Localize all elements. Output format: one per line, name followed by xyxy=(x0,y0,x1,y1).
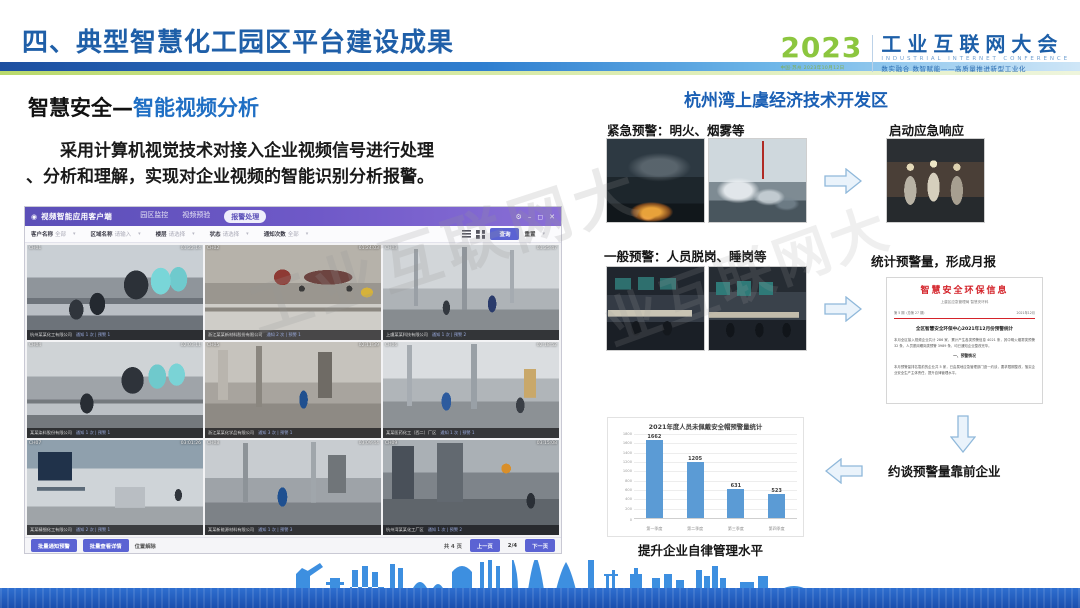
tab-video-inspection[interactable]: 视频预验 xyxy=(182,210,210,223)
caption-meta: 通知 2 次 | 预警 1 xyxy=(266,332,300,338)
app-tabs: 园区监控 视频预验 报警处理 xyxy=(140,210,266,223)
bar-q3[interactable] xyxy=(727,489,744,518)
clock: 03:01:26 xyxy=(181,441,201,446)
x-tick: 第四季度 xyxy=(769,526,785,532)
alert-statistics-chart: 2021年度人员未佩戴安全帽预警量统计 0 200 400 600 800 10… xyxy=(607,417,804,537)
operators-photo xyxy=(708,266,807,351)
clock: 01:22:14 xyxy=(181,246,201,251)
conference-logo: 2023 中国·苏州 2023年10月12日 工业互联网大会 INDUSTRIA… xyxy=(780,34,1070,72)
filter-label: 通知次数 xyxy=(264,230,286,238)
search-button[interactable]: 查询 xyxy=(490,228,519,240)
video-cell[interactable]: CH02 01:24:03 浙江某某新材料股份有限公司 通知 2 次 | 预警 … xyxy=(205,245,381,340)
section-title: 智慧安全—智能视频分析 xyxy=(28,92,259,122)
video-cell[interactable]: CH09 03:15:08 杭州湾某某化工厂区 通知 1 次 | 预警 2 xyxy=(383,440,559,535)
chevron-down-icon[interactable]: ▾ xyxy=(138,231,141,237)
channel-id: CH02 xyxy=(207,246,219,251)
filter-notify-count[interactable]: 通知次数 全部 xyxy=(264,230,299,238)
bar-q4[interactable] xyxy=(768,494,785,518)
video-caption: 浙江某某新材料股份有限公司 通知 2 次 | 预警 1 xyxy=(205,330,381,340)
list-view-icon[interactable] xyxy=(462,230,471,239)
footer-skyline xyxy=(0,560,1080,608)
clock: 03:09:44 xyxy=(359,441,379,446)
video-timestamp: CH07 03:01:26 xyxy=(29,441,201,446)
y-tick: 400 xyxy=(625,497,632,501)
chart-y-axis: 0 200 400 600 800 1000 1200 1400 1600 18… xyxy=(610,434,634,518)
chart-bars: 1662 1205 631 523 xyxy=(634,434,797,518)
filter-label: 区域名称 xyxy=(91,230,113,238)
video-cell[interactable]: CH08 03:09:44 某某新能源材料有限公司 通知 1 次 | 预警 3 xyxy=(205,440,381,535)
video-caption: 浙江某某化学品有限公司 通知 3 次 | 预警 1 xyxy=(205,428,381,438)
filter-value: 请选择 xyxy=(223,230,240,238)
page-title: 四、典型智慧化工园区平台建设成果 xyxy=(22,22,454,59)
caption-meta: 通知 2 次 | 预警 1 xyxy=(76,527,110,533)
skyline-graphic xyxy=(0,560,1080,590)
minimize-icon[interactable]: – xyxy=(528,213,532,221)
body-line-2: 、分析和理解，实现对企业视频的智能识别分析报警。 xyxy=(26,167,434,187)
footer-water-band xyxy=(0,588,1080,608)
report-paragraph: 本月全区接入视频企业共计 286 家，累计产生各类预警信息 4021 条，其中明… xyxy=(894,337,1035,349)
arrow-right-1 xyxy=(824,168,862,194)
tab-park-monitoring[interactable]: 园区监控 xyxy=(140,210,168,223)
control-room-photo xyxy=(606,266,705,351)
logo-name-cn: 工业互联网大会 xyxy=(881,34,1070,54)
report-heading: 全区智慧安全环保中心2021年12月份预警统计 xyxy=(894,326,1035,332)
settings-icon[interactable]: ⚙ xyxy=(516,213,522,221)
bar-value: 1662 xyxy=(647,434,661,440)
video-timestamp: CH04 02:03:11 xyxy=(29,343,201,348)
filter-floor[interactable]: 楼层 请选择 xyxy=(156,230,186,238)
arrow-left xyxy=(825,458,863,484)
video-caption: 某某医药化工（西二）厂区 通知 1 次 | 预警 1 xyxy=(383,428,559,438)
report-divider xyxy=(894,318,1035,319)
report-issue: 第 5 期（总第 27 期） xyxy=(894,310,926,315)
chart-plot-area: 1662 1205 631 523 xyxy=(634,434,797,518)
caption-meta: 通知 1 次 | 预警 3 xyxy=(258,527,292,533)
label-interview-enterprises: 约谈预警量靠前企业 xyxy=(888,461,1001,480)
video-cell[interactable]: CH03 01:25:47 上虞某某科技有限公司 通知 1 次 | 预警 2 xyxy=(383,245,559,340)
filter-label: 客户名称 xyxy=(31,230,53,238)
channel-id: CH09 xyxy=(385,441,397,446)
channel-id: CH06 xyxy=(385,343,397,348)
bar-value: 523 xyxy=(771,488,781,494)
bar-group: 1662 xyxy=(646,434,663,518)
filter-value: 全部 xyxy=(55,230,66,238)
clock: 02:11:39 xyxy=(359,343,379,348)
y-tick: 1800 xyxy=(623,432,632,436)
video-caption: 杭州湾某某化工厂区 通知 1 次 | 预警 2 xyxy=(383,525,559,535)
video-caption: 某某精细化工有限公司 通知 2 次 | 预警 1 xyxy=(27,525,203,535)
label-emergency-response: 启动应急响应 xyxy=(889,120,964,139)
chevron-down-icon[interactable]: ▾ xyxy=(73,231,76,237)
channel-id: CH03 xyxy=(385,246,397,251)
video-client-app: ◉ 视频智能应用客户端 园区监控 视频预验 报警处理 ⚙ – ◻ ✕ 客户名称 … xyxy=(24,206,562,554)
logo-tagline: 数实融合 数智赋能——高质量推进新型工业化 xyxy=(881,66,1070,73)
video-timestamp: CH08 03:09:44 xyxy=(207,441,379,446)
video-timestamp: CH06 02:18:52 xyxy=(385,343,557,348)
monthly-report-document: 智慧安全环保信息 上虞区应急管理局 智慧安环科 第 5 期（总第 27 期） 2… xyxy=(886,277,1043,404)
target-icon: ◉ xyxy=(31,213,37,221)
filter-label: 楼层 xyxy=(156,230,167,238)
section-title-plain: 智慧安全— xyxy=(28,96,133,120)
clock: 02:03:11 xyxy=(181,343,201,348)
filter-value: 请选择 xyxy=(169,230,186,238)
app-title-bar: ◉ 视频智能应用客户端 园区监控 视频预验 报警处理 ⚙ – ◻ ✕ xyxy=(25,207,561,226)
chevron-down-icon[interactable]: ▾ xyxy=(542,231,545,237)
maximize-icon[interactable]: ◻ xyxy=(537,213,543,221)
arrow-down xyxy=(950,415,976,453)
bar-value: 1205 xyxy=(688,456,702,462)
video-cell[interactable]: CH04 02:03:11 某某染料股份有限公司 通知 1 次 | 预警 1 xyxy=(27,342,203,437)
caption-title: 某某医药化工（西二）厂区 xyxy=(386,430,436,436)
caption-meta: 通知 1 次 | 预警 1 xyxy=(440,430,474,436)
label-monthly-report: 统计预警量，形成月报 xyxy=(871,251,996,270)
channel-id: CH04 xyxy=(29,343,41,348)
filter-customer-name[interactable]: 客户名称 全部 xyxy=(31,230,66,238)
x-tick: 第一季度 xyxy=(646,526,662,532)
y-tick: 200 xyxy=(625,507,632,511)
report-title: 智慧安全环保信息 xyxy=(894,283,1035,296)
y-tick: 800 xyxy=(625,479,632,483)
tab-alarm-handling[interactable]: 报警处理 xyxy=(224,210,266,223)
video-timestamp: CH03 01:25:47 xyxy=(385,246,557,251)
label-improve-management: 提升企业自律管理水平 xyxy=(638,540,763,559)
bar-q2[interactable] xyxy=(687,462,704,518)
channel-id: CH07 xyxy=(29,441,41,446)
close-icon[interactable]: ✕ xyxy=(549,213,555,221)
video-cell[interactable]: CH05 02:11:39 浙江某某化学品有限公司 通知 3 次 | 预警 1 xyxy=(205,342,381,437)
chart-title: 2021年度人员未佩戴安全帽预警量统计 xyxy=(608,418,803,431)
chart-x-axis: 第一季度 第二季度 第三季度 第四季度 xyxy=(634,526,797,532)
caption-meta: 通知 1 次 | 预警 1 xyxy=(76,332,110,338)
label-general-alert: 一般预警：人员脱岗、睡岗等 xyxy=(604,246,767,265)
section-title-accent: 智能视频分析 xyxy=(133,96,259,120)
pagination: 共 4 页 上一页 2/4 下一页 xyxy=(444,539,555,552)
logo-year-block: 2023 中国·苏州 2023年10月12日 xyxy=(780,34,872,71)
batch-notify-button[interactable]: 批量通知预警 xyxy=(31,539,77,552)
caption-meta: 通知 1 次 | 预警 2 xyxy=(428,527,462,533)
caption-title: 上虞某某科技有限公司 xyxy=(386,332,428,338)
caption-meta: 通知 3 次 | 预警 1 xyxy=(258,430,292,436)
y-tick: 1000 xyxy=(623,469,632,473)
reset-button[interactable]: 重置 xyxy=(524,230,535,238)
clock: 03:15:08 xyxy=(537,441,557,446)
total-pages-label: 共 4 页 xyxy=(444,542,462,550)
report-paragraph-2: 本月预警量排名靠前的企业共 5 家，已由属地应急管理部门逐一约谈，要求限期整改，… xyxy=(894,364,1035,376)
filter-label: 状态 xyxy=(210,230,221,238)
body-paragraph: 采用计算机视觉技术对接入企业视频信号进行处理 、分析和理解，实现对企业视频的智能… xyxy=(26,138,566,191)
video-timestamp: CH05 02:11:39 xyxy=(207,343,379,348)
caption-title: 杭州某某化工有限公司 xyxy=(30,332,72,338)
prev-page-button[interactable]: 上一页 xyxy=(470,539,500,552)
right-panel-title: 杭州湾上虞经济技术开发区 xyxy=(684,86,888,111)
video-timestamp: CH09 03:15:08 xyxy=(385,441,557,446)
caption-meta: 通知 1 次 | 预警 2 xyxy=(432,332,466,338)
caption-title: 某某精细化工有限公司 xyxy=(30,527,72,533)
y-tick: 600 xyxy=(625,488,632,492)
y-tick: 1200 xyxy=(623,460,632,464)
logo-divider xyxy=(872,35,873,72)
caption-title: 浙江某某化学品有限公司 xyxy=(208,430,254,436)
filter-status[interactable]: 状态 请选择 xyxy=(210,230,240,238)
batch-detail-button[interactable]: 批量查看详情 xyxy=(83,539,129,552)
channel-id: CH08 xyxy=(207,441,219,446)
caption-title: 杭州湾某某化工厂区 xyxy=(386,527,424,533)
logo-year: 2023 xyxy=(780,34,862,62)
chevron-down-icon[interactable]: ▾ xyxy=(246,231,249,237)
clock: 02:18:52 xyxy=(537,343,557,348)
bar-group: 631 xyxy=(727,434,744,518)
x-tick: 第二季度 xyxy=(687,526,703,532)
video-caption: 某某新能源材料有限公司 通知 1 次 | 预警 3 xyxy=(205,525,381,535)
bar-group: 523 xyxy=(768,434,785,518)
clock: 01:25:47 xyxy=(537,246,557,251)
slide-root: 四、典型智慧化工园区平台建设成果 2023 中国·苏州 2023年10月12日 … xyxy=(0,0,1080,608)
report-heading-2: 一、预警情况 xyxy=(894,353,1035,359)
smoke-plume-photo xyxy=(708,138,807,223)
y-tick: 1600 xyxy=(623,441,632,445)
position-clear-label[interactable]: 位置解除 xyxy=(135,542,156,550)
video-timestamp: CH02 01:24:03 xyxy=(207,246,379,251)
logo-year-subtitle: 中国·苏州 2023年10月12日 xyxy=(780,65,862,71)
app-footer-bar: 批量通知预警 批量查看详情 位置解除 共 4 页 上一页 2/4 下一页 xyxy=(25,537,561,553)
chevron-down-icon[interactable]: ▾ xyxy=(192,231,195,237)
video-cell[interactable]: CH01 01:22:14 杭州某某化工有限公司 通知 1 次 | 预警 1 xyxy=(27,245,203,340)
filter-actions: 查询 重置 ▾ xyxy=(462,228,555,240)
video-caption: 杭州某某化工有限公司 通知 1 次 | 预警 1 xyxy=(27,330,203,340)
firefighters-photo xyxy=(886,138,985,223)
video-cell[interactable]: CH06 02:18:52 某某医药化工（西二）厂区 通知 1 次 | 预警 1 xyxy=(383,342,559,437)
page-indicator: 2/4 xyxy=(508,543,517,549)
filter-area-name[interactable]: 区域名称 请输入 xyxy=(91,230,132,238)
video-cell[interactable]: CH07 03:01:26 某某精细化工有限公司 通知 2 次 | 预警 1 xyxy=(27,440,203,535)
x-tick: 第三季度 xyxy=(728,526,744,532)
video-caption: 上虞某某科技有限公司 通知 1 次 | 预警 2 xyxy=(383,330,559,340)
caption-title: 浙江某某新材料股份有限公司 xyxy=(208,332,262,338)
caption-meta: 通知 1 次 | 预警 1 xyxy=(76,430,110,436)
filter-bar: 客户名称 全部 ▾ 区域名称 请输入 ▾ 楼层 请选择 ▾ 状态 请选择 ▾ 通… xyxy=(25,226,561,243)
chevron-down-icon[interactable]: ▾ xyxy=(306,231,309,237)
video-caption: 某某染料股份有限公司 通知 1 次 | 预警 1 xyxy=(27,428,203,438)
body-line-1: 采用计算机视觉技术对接入企业视频信号进行处理 xyxy=(60,141,434,161)
caption-title: 某某染料股份有限公司 xyxy=(30,430,72,436)
window-controls: ⚙ – ◻ ✕ xyxy=(516,213,555,221)
y-tick: 1400 xyxy=(623,451,632,455)
arrow-right-2 xyxy=(824,296,862,322)
clock: 01:24:03 xyxy=(359,246,379,251)
report-subtitle: 上虞区应急管理局 智慧安环科 xyxy=(894,300,1035,305)
video-timestamp: CH01 01:22:14 xyxy=(29,246,201,251)
bar-value: 631 xyxy=(731,483,741,489)
fire-smoke-photo xyxy=(606,138,705,223)
video-grid: CH01 01:22:14 杭州某某化工有限公司 通知 1 次 | 预警 1 C… xyxy=(25,243,561,537)
report-date: 2021年12月 xyxy=(1016,310,1035,315)
next-page-button[interactable]: 下一页 xyxy=(525,539,555,552)
bar-group: 1205 xyxy=(687,434,704,518)
channel-id: CH01 xyxy=(29,246,41,251)
filter-value: 请输入 xyxy=(115,230,132,238)
filter-value: 全部 xyxy=(288,230,299,238)
report-meta: 第 5 期（总第 27 期） 2021年12月 xyxy=(894,310,1035,315)
app-name: 视频智能应用客户端 xyxy=(41,211,112,222)
channel-id: CH05 xyxy=(207,343,219,348)
caption-title: 某某新能源材料有限公司 xyxy=(208,527,254,533)
grid-view-icon[interactable] xyxy=(476,230,485,239)
bar-q1[interactable] xyxy=(646,440,663,518)
label-urgent-alert: 紧急预警：明火、烟雾等 xyxy=(607,120,745,139)
logo-text-block: 工业互联网大会 INDUSTRIAL INTERNET CONFERENCE 数… xyxy=(881,34,1070,72)
logo-name-en: INDUSTRIAL INTERNET CONFERENCE xyxy=(881,57,1070,63)
